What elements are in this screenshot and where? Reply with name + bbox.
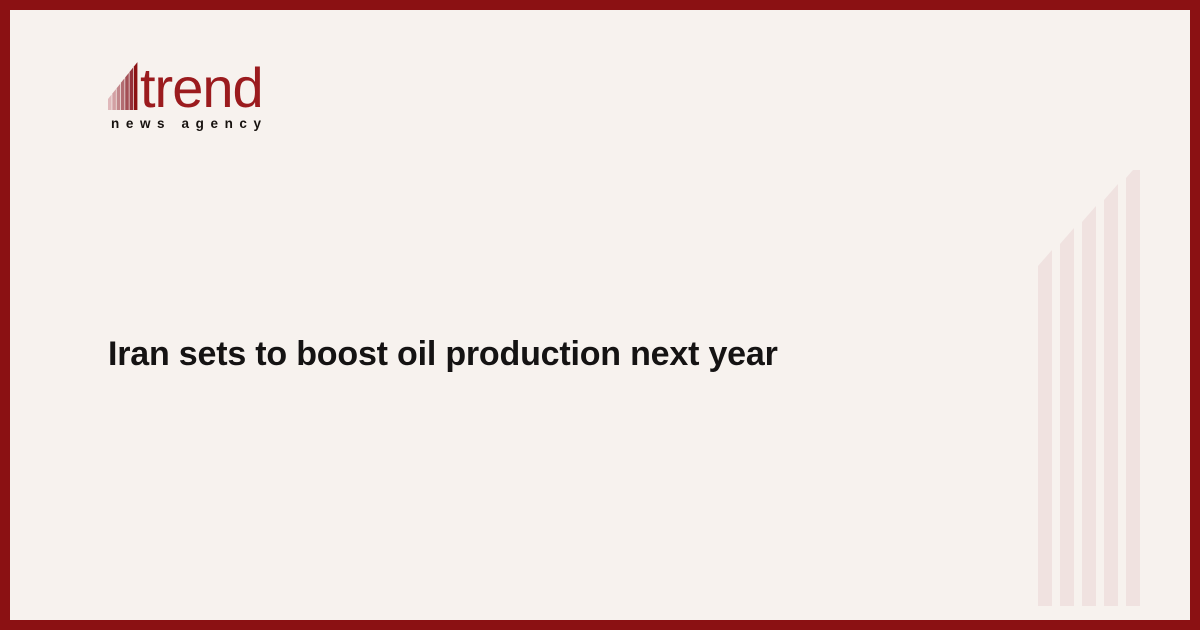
article-headline: Iran sets to boost oil production next y… [108,331,928,377]
share-card: trend news agency Iran sets to boost oil… [0,0,1200,630]
logo-top-row: trend [108,54,368,110]
staircase-bars-watermark [1026,170,1190,606]
trend-logo[interactable]: trend news agency [108,54,368,131]
logo-wordmark: trend [140,63,263,113]
card-canvas: trend news agency Iran sets to boost oil… [10,10,1190,620]
trend-bar-chart-mark-icon [108,60,138,110]
